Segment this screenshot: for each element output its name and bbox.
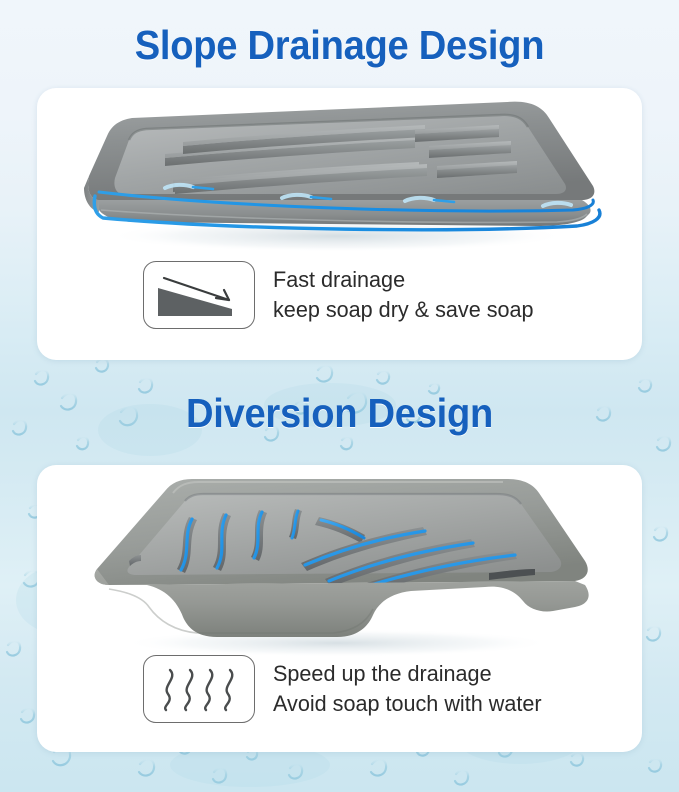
feature-line-1: Fast drainage — [273, 265, 534, 295]
product-image-diversion-dish — [37, 465, 642, 660]
wavy-line-group — [165, 670, 232, 710]
feature-row-fast-drainage: Fast drainage keep soap dry & save soap — [143, 261, 544, 329]
feature-row-speed-drainage: Speed up the drainage Avoid soap touch w… — [143, 655, 553, 723]
feature-line-1: Speed up the drainage — [273, 659, 542, 689]
wavy-lines-icon — [143, 655, 255, 723]
product-image-slope-dish — [37, 88, 642, 258]
feature-caption-fast-drainage: Fast drainage keep soap dry & save soap — [273, 265, 534, 326]
infographic-page: Slope Drainage Design — [0, 0, 679, 792]
feature-line-2: Avoid soap touch with water — [273, 689, 542, 719]
card-diversion: Speed up the drainage Avoid soap touch w… — [37, 465, 642, 752]
page-title-slope-drainage: Slope Drainage Design — [24, 22, 655, 69]
feature-caption-speed-drainage: Speed up the drainage Avoid soap touch w… — [273, 659, 542, 720]
feature-line-2: keep soap dry & save soap — [273, 295, 534, 325]
slope-arrow-head — [216, 290, 229, 300]
slope-arrow-icon — [143, 261, 255, 329]
slope-wedge-shape — [158, 288, 232, 316]
page-title-diversion: Diversion Design — [24, 390, 655, 437]
card-slope-drainage: Fast drainage keep soap dry & save soap — [37, 88, 642, 360]
